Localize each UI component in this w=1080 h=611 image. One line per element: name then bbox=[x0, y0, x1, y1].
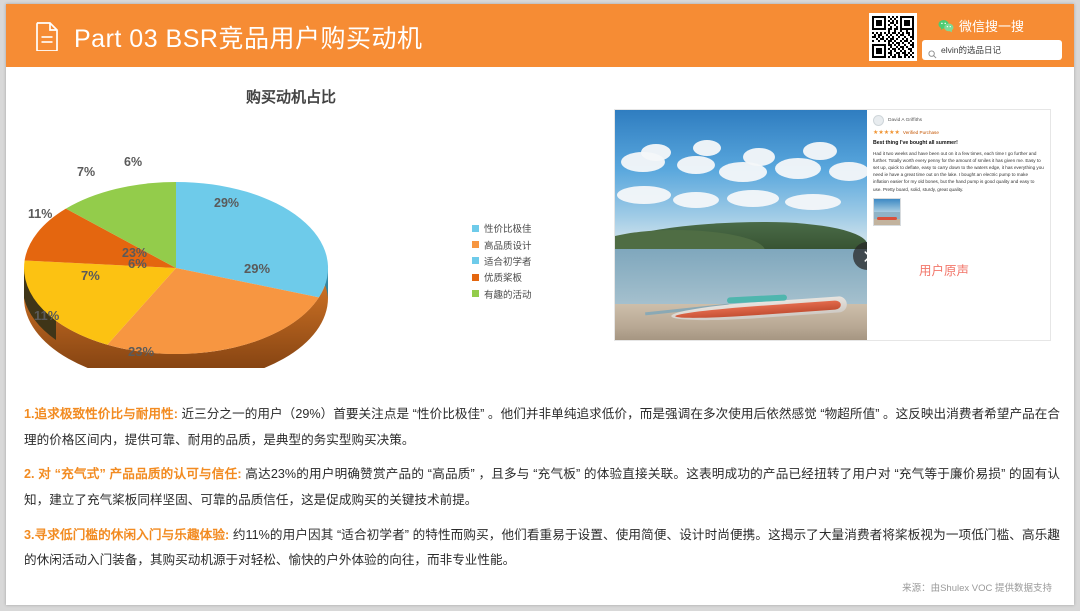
review-screenshot-panel: David A Griffiths ★★★★★ Verified Purchas… bbox=[614, 109, 1051, 341]
page-title: Part 03 BSR竞品用户购买动机 bbox=[74, 19, 422, 55]
legend-swatch-icon bbox=[472, 257, 479, 264]
insight-heading: 1.追求极致性价比与耐用性: bbox=[24, 407, 178, 421]
review-rating-row: ★★★★★ Verified Purchase bbox=[873, 129, 1044, 136]
insight-body: 近三分之一的用户（29%）首要关注点是 “性价比极佳” 。他们并非单纯追求低价，… bbox=[24, 407, 1060, 447]
pie-label-2: 23% bbox=[122, 246, 147, 260]
user-avatar-icon bbox=[873, 115, 884, 126]
pie-label-5: 6% bbox=[124, 155, 142, 169]
insight-paragraph-3: 3.寻求低门槛的休闲入门与乐趣体验: 约11%的用户因其 “适合初学者” 的特性… bbox=[24, 523, 1060, 574]
chart-title: 购买动机占比 bbox=[246, 86, 336, 107]
pie-label-1: 29% bbox=[214, 196, 239, 210]
search-icon bbox=[928, 46, 937, 55]
wechat-brand-row: 微信搜一搜 bbox=[922, 16, 1062, 35]
legend-swatch-icon bbox=[472, 225, 479, 232]
insight-heading: 3.寻求低门槛的休闲入门与乐趣体验: bbox=[24, 528, 229, 542]
insight-heading: 2. 对 “充气式” 产品品质的认可与信任: bbox=[24, 467, 242, 481]
legend-label: 性价比极佳 bbox=[484, 221, 532, 235]
cloud-shape bbox=[743, 148, 775, 166]
pie-label-3: 11% bbox=[28, 207, 52, 221]
legend-item-1[interactable]: 高品质设计 bbox=[472, 236, 532, 252]
cloud-shape bbox=[677, 156, 715, 174]
cloud-shape bbox=[829, 162, 867, 181]
review-headline: Best thing I've bought all summer! bbox=[873, 140, 1044, 146]
pie-value-label-4: 7% bbox=[81, 268, 100, 283]
chart-legend: 性价比极佳 高品质设计 适合初学者 优质桨板 有趣的活动 bbox=[472, 220, 532, 302]
voc-annotation-label: 用户原声 bbox=[919, 260, 969, 279]
verified-purchase-badge: Verified Purchase bbox=[903, 130, 939, 135]
legend-swatch-icon bbox=[472, 274, 479, 281]
slide-canvas: Part 03 BSR竞品用户购买动机 bbox=[6, 4, 1074, 605]
cloud-shape bbox=[785, 194, 841, 210]
pie-chart: 29% 23% 11% 7% 6% 29% 23% 11% 7% 6% bbox=[6, 108, 466, 368]
review-author-name: David A Griffiths bbox=[888, 118, 922, 123]
cloud-shape bbox=[775, 158, 821, 179]
slide-header: Part 03 BSR竞品用户购买动机 bbox=[6, 4, 1074, 67]
cloud-shape bbox=[727, 190, 779, 207]
cloud-shape bbox=[641, 144, 671, 161]
review-card: David A Griffiths ★★★★★ Verified Purchas… bbox=[867, 110, 1051, 341]
review-author-row: David A Griffiths bbox=[873, 115, 1044, 126]
wechat-search-label: 微信搜一搜 bbox=[959, 16, 1024, 35]
document-icon bbox=[34, 22, 60, 51]
insights-section: 1.追求极致性价比与耐用性: 近三分之一的用户（29%）首要关注点是 “性价比极… bbox=[24, 402, 1060, 583]
data-source-footer: 来源：由Shulex VOC 提供数据支持 bbox=[902, 580, 1052, 594]
legend-swatch-icon bbox=[472, 241, 479, 248]
insight-paragraph-2: 2. 对 “充气式” 产品品质的认可与信任: 高达23%的用户明确赞赏产品的 “… bbox=[24, 462, 1060, 513]
pie-value-label-3: 11% bbox=[34, 308, 60, 323]
legend-item-0[interactable]: 性价比极佳 bbox=[472, 220, 532, 236]
legend-swatch-icon bbox=[472, 290, 479, 297]
legend-item-4[interactable]: 有趣的活动 bbox=[472, 286, 532, 302]
search-input[interactable]: elvin的选品日记 bbox=[922, 40, 1062, 60]
pie-value-label-2: 23% bbox=[128, 344, 154, 359]
thumbnail-sky bbox=[874, 199, 900, 213]
pie-label-4: 7% bbox=[77, 165, 95, 179]
legend-label: 高品质设计 bbox=[484, 238, 532, 252]
legend-item-3[interactable]: 优质桨板 bbox=[472, 269, 532, 285]
legend-label: 优质桨板 bbox=[484, 270, 522, 284]
pie-slices bbox=[24, 182, 328, 354]
legend-label: 适合初学者 bbox=[484, 254, 532, 268]
cloud-shape bbox=[673, 192, 719, 208]
insight-paragraph-1: 1.追求极致性价比与耐用性: 近三分之一的用户（29%）首要关注点是 “性价比极… bbox=[24, 402, 1060, 453]
thumbnail-board bbox=[877, 217, 897, 220]
legend-label: 有趣的活动 bbox=[484, 287, 532, 301]
wechat-search-block: 微信搜一搜 elvin的选品日记 bbox=[922, 16, 1062, 60]
product-photo bbox=[615, 110, 867, 341]
star-rating-icon: ★★★★★ bbox=[873, 129, 900, 136]
pie-value-label-1: 29% bbox=[244, 261, 270, 276]
cloud-shape bbox=[803, 142, 837, 160]
cloud-shape bbox=[693, 140, 721, 156]
cloud-shape bbox=[617, 186, 671, 204]
wechat-logo-icon bbox=[938, 19, 954, 33]
search-input-value: elvin的选品日记 bbox=[941, 44, 1001, 56]
review-photo-thumbnail[interactable] bbox=[873, 198, 901, 226]
legend-item-2[interactable]: 适合初学者 bbox=[472, 253, 532, 269]
qr-code-icon bbox=[869, 13, 917, 61]
review-body-text: Had it two weeks and have been out on it… bbox=[873, 150, 1044, 193]
